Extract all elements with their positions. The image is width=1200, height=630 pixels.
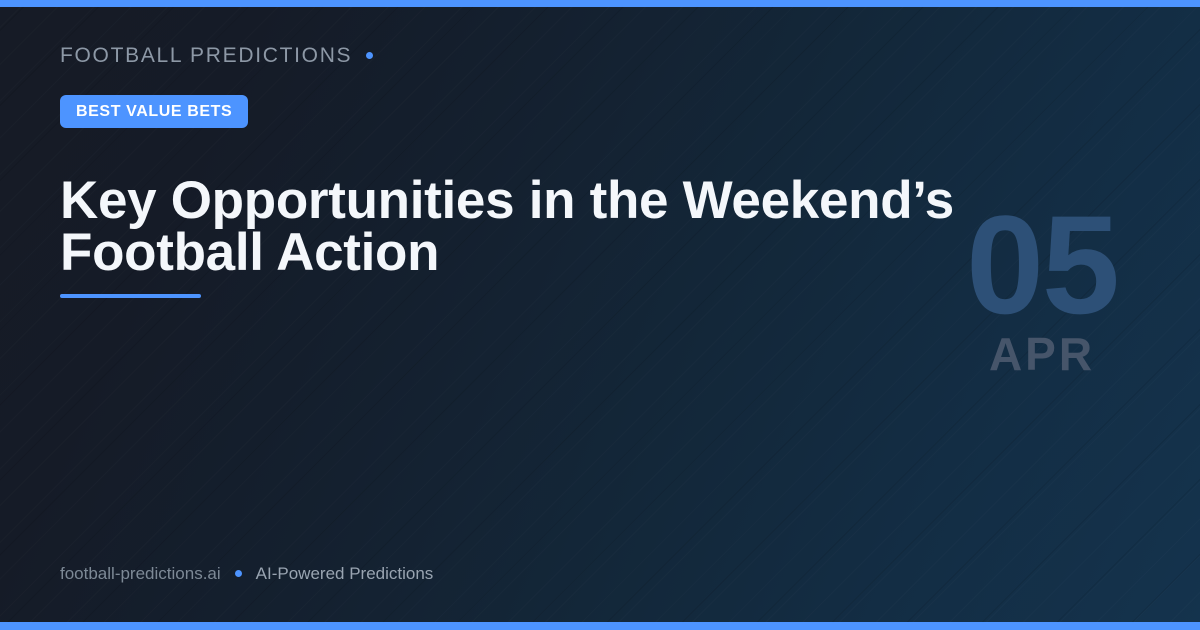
date-day: 05	[942, 200, 1142, 330]
bottom-accent-bar	[0, 622, 1200, 630]
footer-tagline: AI-Powered Predictions	[256, 565, 434, 582]
top-accent-bar	[0, 0, 1200, 7]
dot-icon	[235, 570, 242, 577]
eyebrow: FOOTBALL PREDICTIONS	[60, 45, 373, 66]
social-share-card: FOOTBALL PREDICTIONS BEST VALUE BETS Key…	[0, 0, 1200, 630]
accent-divider	[60, 294, 201, 298]
dot-icon	[366, 52, 373, 59]
date-block: 05 APR	[942, 200, 1142, 377]
footer-site-label: football-predictions.ai	[60, 565, 221, 582]
status-badge: BEST VALUE BETS	[60, 95, 248, 128]
footer: football-predictions.ai AI-Powered Predi…	[60, 565, 433, 582]
page-title: Key Opportunities in the Weekend’s Footb…	[60, 175, 1040, 279]
status-badge-label: BEST VALUE BETS	[76, 104, 232, 120]
eyebrow-label: FOOTBALL PREDICTIONS	[60, 45, 352, 66]
